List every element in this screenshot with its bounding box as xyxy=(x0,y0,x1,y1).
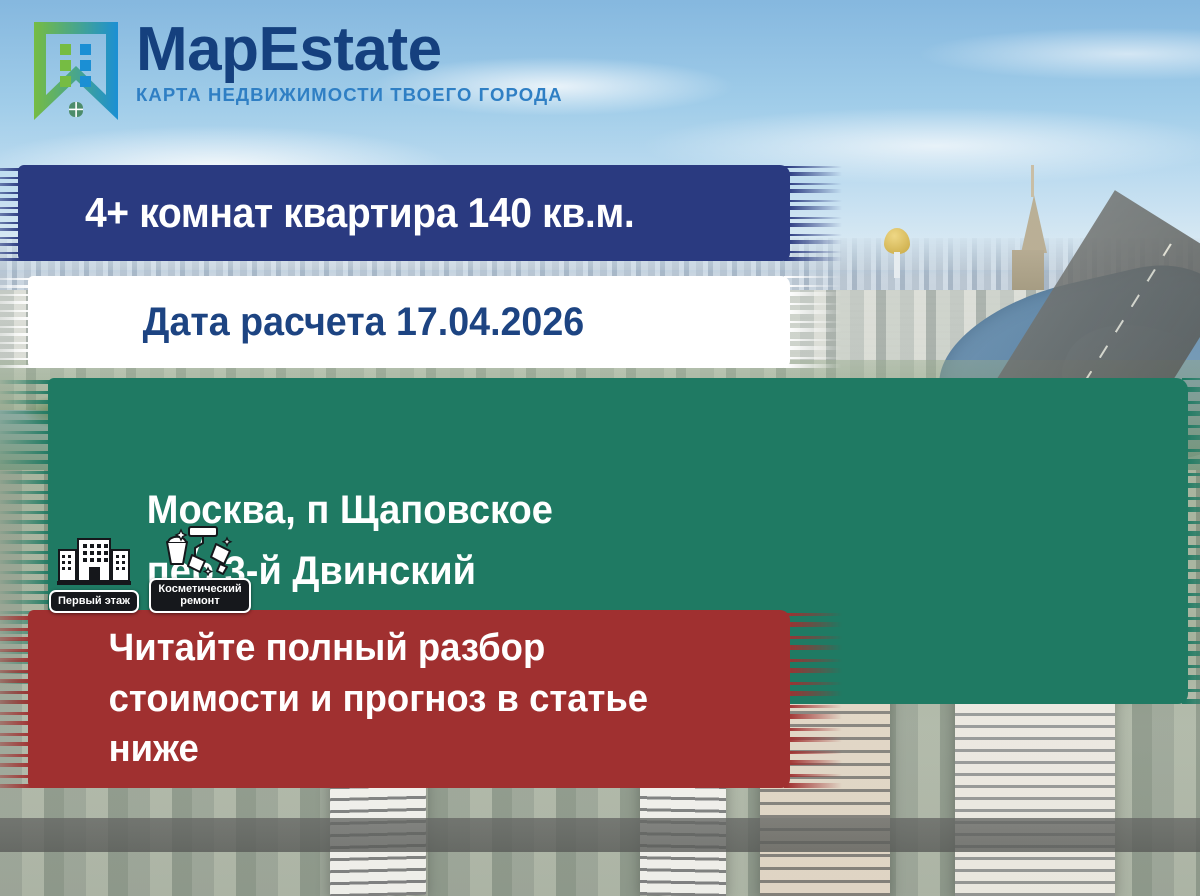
brand-tagline: КАРТА НЕДВИЖИМОСТИ ТВОЕГО ГОРОДА xyxy=(136,84,563,106)
badge-cosmetic-repair-label: Косметический ремонт xyxy=(149,578,250,613)
poster-canvas: MapEstate КАРТА НЕДВИЖИМОСТИ ТВОЕГО ГОРО… xyxy=(0,0,1200,896)
brand-wordmark: MapEstate xyxy=(136,20,563,80)
cta-line-2: стоимости и прогноз в статье xyxy=(109,674,760,725)
badge-first-floor-label: Первый этаж xyxy=(49,590,139,612)
feature-badges: Первый этаж xyxy=(46,524,248,613)
cta-line-1: Читайте полный разбор xyxy=(109,623,760,674)
address-line-city: Москва, п Щаповское xyxy=(147,480,1131,541)
rooms-text: 4+ комнат квартира 140 кв.м. xyxy=(18,189,736,237)
banner-rooms: 4+ комнат квартира 140 кв.м. xyxy=(18,165,790,261)
cta-line-3: ниже xyxy=(109,724,760,775)
calculation-date-text: Дата расчета 17.04.2026 xyxy=(28,300,744,345)
building-facade-icon xyxy=(55,536,133,588)
banner-cta[interactable]: Читайте полный разбор стоимости и прогно… xyxy=(28,610,790,788)
cta-text-block: Читайте полный разбор стоимости и прогно… xyxy=(28,623,760,775)
badge-first-floor[interactable]: Первый этаж xyxy=(46,536,142,612)
address-line-street: пер 3-й Двинский xyxy=(147,541,1131,602)
brand-text: MapEstate КАРТА НЕДВИЖИМОСТИ ТВОЕГО ГОРО… xyxy=(136,20,563,106)
paint-roller-brush-icon xyxy=(161,524,239,576)
page-header: MapEstate КАРТА НЕДВИЖИМОСТИ ТВОЕГО ГОРО… xyxy=(0,0,1200,140)
brand-logo[interactable]: MapEstate КАРТА НЕДВИЖИМОСТИ ТВОЕГО ГОРО… xyxy=(30,18,563,124)
badge-cosmetic-repair[interactable]: Косметический ремонт xyxy=(152,524,248,613)
banner-calculation-date: Дата расчета 17.04.2026 xyxy=(28,276,790,368)
bookmark-building-icon xyxy=(30,18,122,124)
